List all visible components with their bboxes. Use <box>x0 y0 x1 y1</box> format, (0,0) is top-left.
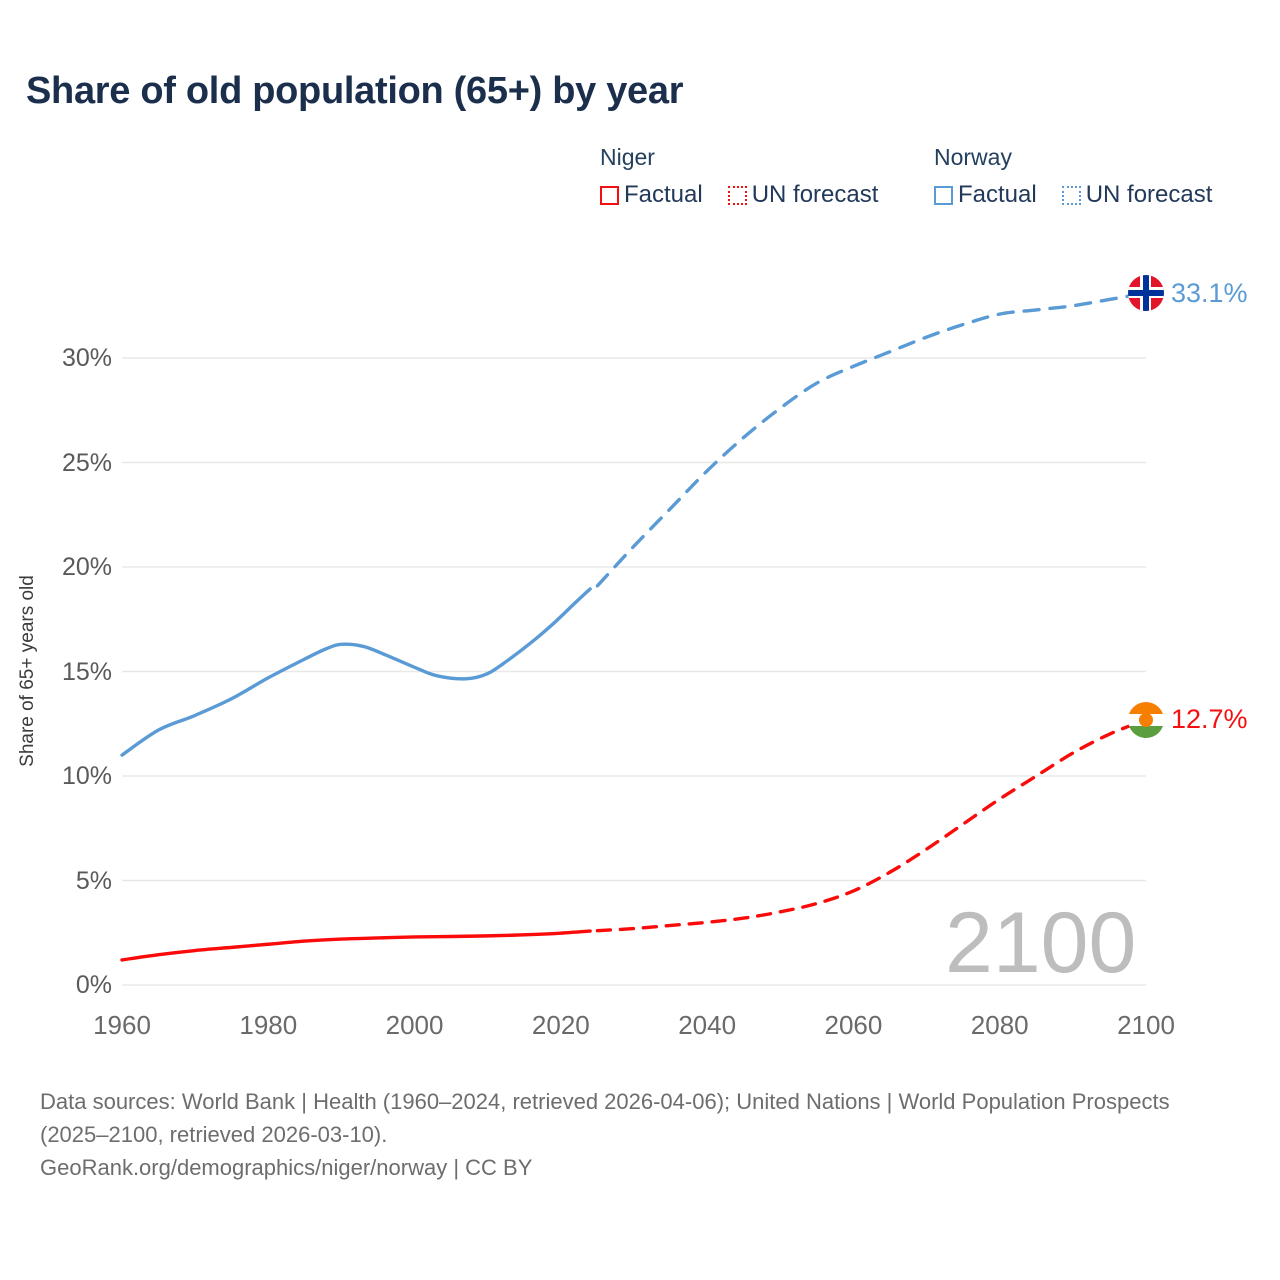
endpoint-marker-norway: 33.1% <box>1128 275 1248 311</box>
endpoint-value-niger: 12.7% <box>1171 704 1248 735</box>
x-tick-label: 2000 <box>386 1010 444 1041</box>
series-paths <box>122 293 1146 960</box>
x-tick-label: 2080 <box>971 1010 1029 1041</box>
y-tick-label: 30% <box>4 344 112 373</box>
endpoint-value-norway: 33.1% <box>1171 278 1248 309</box>
year-watermark: 2100 <box>945 900 1136 986</box>
series-line-niger-factual <box>122 931 590 960</box>
x-axis-ticks: 19601980200020202040206020802100 <box>0 1010 1280 1056</box>
x-tick-label: 2060 <box>825 1010 883 1041</box>
data-sources-text: Data sources: World Bank | Health (1960–… <box>40 1085 1240 1151</box>
niger-flag-icon <box>1128 702 1164 738</box>
footer: Data sources: World Bank | Health (1960–… <box>40 1085 1240 1184</box>
chart-page: Share of old population (65+) by year Ni… <box>0 0 1280 1280</box>
series-line-norway-un-forecast <box>597 293 1146 586</box>
y-axis-title: Share of 65+ years old <box>17 411 39 931</box>
y-tick-label: 0% <box>4 971 112 1000</box>
x-tick-label: 2100 <box>1117 1010 1175 1041</box>
attribution-text: GeoRank.org/demographics/niger/norway | … <box>40 1151 1240 1184</box>
endpoint-marker-niger: 12.7% <box>1128 702 1248 738</box>
gridlines <box>122 358 1146 985</box>
x-tick-label: 1980 <box>239 1010 297 1041</box>
x-tick-label: 2020 <box>532 1010 590 1041</box>
norway-flag-icon <box>1128 275 1164 311</box>
x-tick-label: 2040 <box>678 1010 736 1041</box>
x-tick-label: 1960 <box>93 1010 151 1041</box>
plot-area: 0%5%10%15%20%25%30% 19601980200020202040… <box>0 0 1280 1060</box>
